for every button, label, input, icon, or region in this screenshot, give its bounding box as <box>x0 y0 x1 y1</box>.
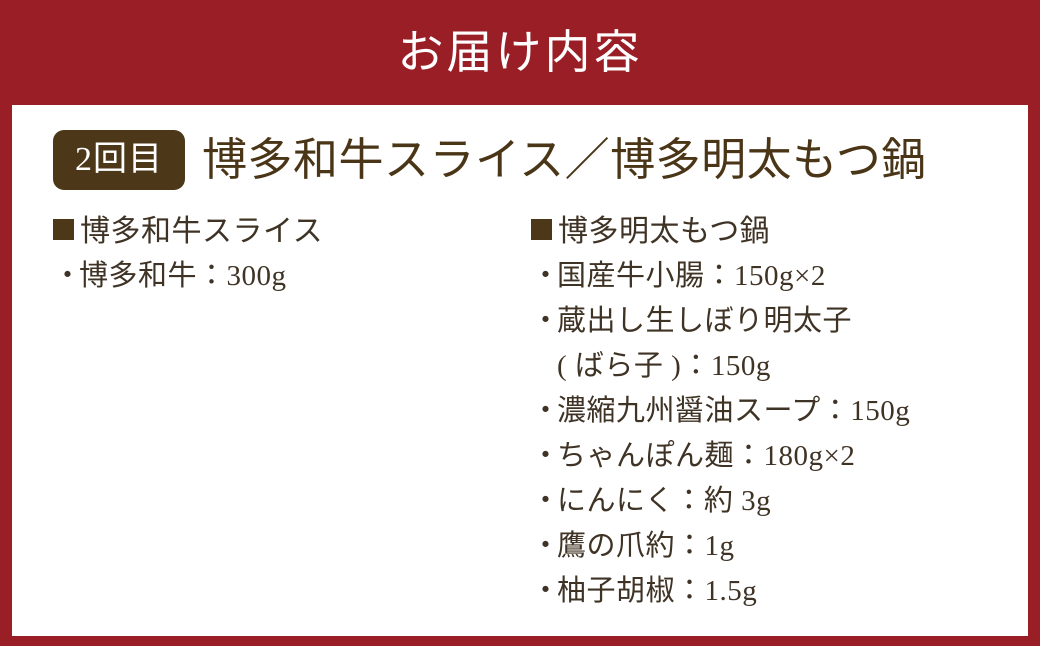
list-item: ・ 蔵出し生しぼり明太子 ( ばら子 )：150g <box>531 299 997 389</box>
list-item-label: 国産牛小腸：150g×2 <box>557 254 826 299</box>
section-heading-label: 博多明太もつ鍋 <box>558 210 770 254</box>
dot-bullet-icon: ・ <box>531 389 557 434</box>
item-list: ・ 国産牛小腸：150g×2 ・ 蔵出し生しぼり明太子 ( ばら子 )：150g… <box>531 254 997 614</box>
page-title: お届け内容 <box>398 30 643 76</box>
dot-bullet-icon: ・ <box>53 254 79 299</box>
dot-bullet-icon: ・ <box>531 434 557 479</box>
list-item: ・ にんにく：約 3g <box>531 479 997 524</box>
header-band: お届け内容 <box>0 0 1040 105</box>
dot-bullet-icon: ・ <box>531 569 557 614</box>
item-list: ・ 博多和牛：300g <box>53 254 519 299</box>
square-bullet-icon <box>53 219 74 240</box>
list-item: ・ 濃縮九州醤油スープ：150g <box>531 389 997 434</box>
list-item: ・ 国産牛小腸：150g×2 <box>531 254 997 299</box>
dot-bullet-icon: ・ <box>531 254 557 299</box>
column-mentai-motsunabe: 博多明太もつ鍋 ・ 国産牛小腸：150g×2 ・ 蔵出し生しぼり明太子 ( ばら… <box>531 210 997 614</box>
dot-bullet-icon: ・ <box>531 479 557 524</box>
title-row: 2回目 博多和牛スライス／博多明太もつ鍋 <box>53 130 927 190</box>
list-item-label: 濃縮九州醤油スープ：150g <box>557 389 910 434</box>
dot-bullet-icon: ・ <box>531 299 557 389</box>
product-contents-card: お届け内容 2回目 博多和牛スライス／博多明太もつ鍋 博多和牛スライス ・ 博多… <box>0 0 1040 646</box>
product-title: 博多和牛スライス／博多明太もつ鍋 <box>202 138 927 183</box>
list-item: ・ 博多和牛：300g <box>53 254 519 299</box>
list-item-label: 博多和牛：300g <box>79 254 287 299</box>
column-wagyu-slice: 博多和牛スライス ・ 博多和牛：300g <box>53 210 519 614</box>
delivery-round-badge: 2回目 <box>53 130 185 190</box>
section-heading: 博多明太もつ鍋 <box>531 210 997 254</box>
list-item-label: にんにく：約 3g <box>557 479 771 524</box>
list-item: ・ 柚子胡椒：1.5g <box>531 569 997 614</box>
list-item: ・ ちゃんぽん麺：180g×2 <box>531 434 997 479</box>
list-item-label: 鷹の爪約：1g <box>557 524 735 569</box>
list-item-label: 柚子胡椒：1.5g <box>557 569 757 614</box>
contents-columns: 博多和牛スライス ・ 博多和牛：300g 博多明太もつ鍋 ・ <box>53 210 1003 614</box>
list-item: ・ 鷹の爪約：1g <box>531 524 997 569</box>
list-item-label: ちゃんぽん麺：180g×2 <box>557 434 855 479</box>
section-heading-label: 博多和牛スライス <box>80 210 323 254</box>
list-item-label: 蔵出し生しぼり明太子 ( ばら子 )：150g <box>557 299 852 389</box>
square-bullet-icon <box>531 219 552 240</box>
dot-bullet-icon: ・ <box>531 524 557 569</box>
content-panel: 2回目 博多和牛スライス／博多明太もつ鍋 博多和牛スライス ・ 博多和牛：300… <box>12 105 1028 636</box>
section-heading: 博多和牛スライス <box>53 210 519 254</box>
